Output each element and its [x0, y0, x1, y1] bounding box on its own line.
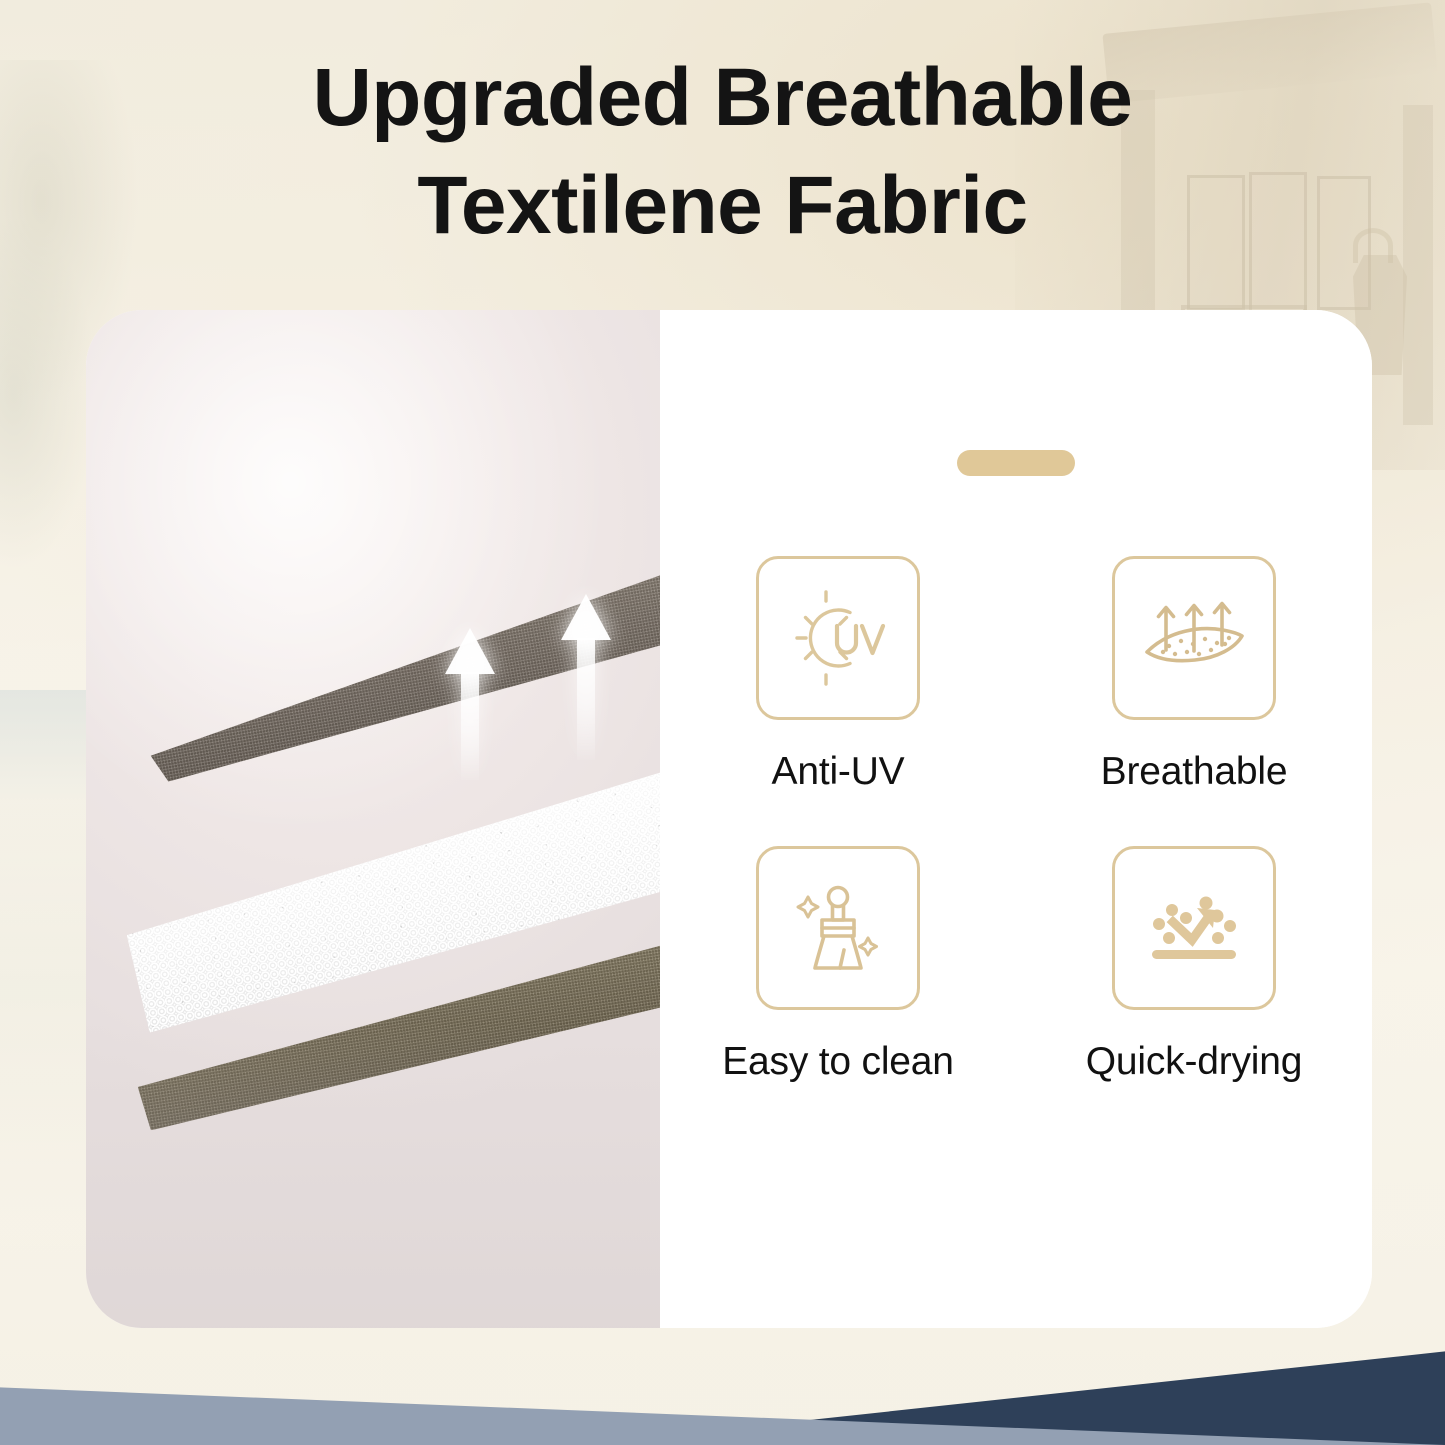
feature-grid: Anti-UV [660, 556, 1372, 1084]
feature-anti-uv[interactable]: Anti-UV [660, 556, 1016, 794]
feature-quick-drying[interactable]: Quick-drying [1016, 846, 1372, 1084]
fabric-photo-pane [86, 310, 660, 1328]
photo-bottom-shadow [86, 1023, 660, 1328]
quick-dry-water-bounce-icon [1139, 876, 1249, 980]
uv-sun-icon [786, 586, 890, 690]
feature-label: Easy to clean [722, 1040, 954, 1084]
arrow-head-icon [561, 594, 611, 640]
breathable-fabric-arrows-icon [1139, 586, 1249, 690]
icon-box-breathable [1112, 556, 1276, 720]
arrow-head-icon [445, 628, 495, 674]
page-title: Upgraded Breathable Textilene Fabric [0, 44, 1445, 260]
feature-breathable[interactable]: Breathable [1016, 556, 1372, 794]
feature-label: Breathable [1101, 750, 1288, 794]
cleaning-brush-sparkle-icon [786, 876, 890, 980]
feature-card: Anti-UV [86, 310, 1372, 1328]
infographic-stage: Upgraded Breathable Textilene Fabric [0, 0, 1445, 1445]
feature-label: Quick-drying [1086, 1040, 1303, 1084]
feature-label: Anti-UV [772, 750, 905, 794]
arrow-shaft [577, 638, 595, 760]
icon-box-easy-to-clean [756, 846, 920, 1010]
icon-box-quick-drying [1112, 846, 1276, 1010]
feature-easy-to-clean[interactable]: Easy to clean [660, 846, 1016, 1084]
gold-accent-pill [957, 450, 1075, 476]
feature-pane: Anti-UV [660, 310, 1372, 1328]
arrow-shaft [461, 672, 479, 780]
icon-box-anti-uv [756, 556, 920, 720]
